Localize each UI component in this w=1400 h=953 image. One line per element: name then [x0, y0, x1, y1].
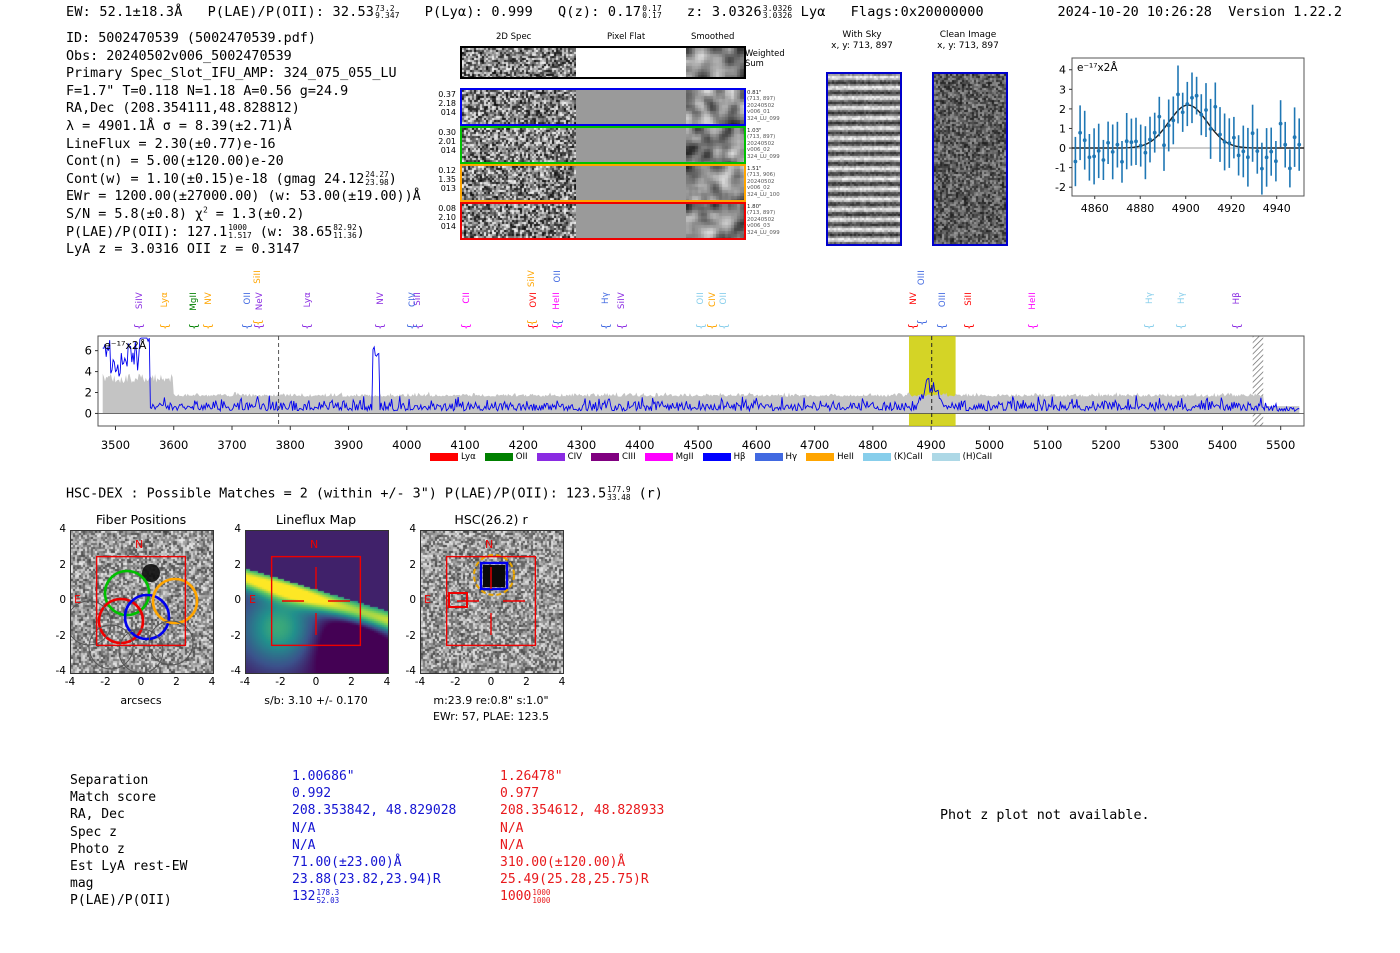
xtick-label: 3900: [323, 438, 375, 452]
xtick-label: 4700: [789, 438, 841, 452]
line-bracket-icon: }: [1175, 323, 1188, 330]
ew-value: 52.1±18.3Å: [99, 4, 182, 20]
legend-swatch: [645, 453, 673, 461]
qz-label: Q(z):: [558, 4, 600, 20]
cutout-xtick: 4: [375, 676, 399, 688]
fiber-meta-5: 324_LU_099: [747, 154, 780, 160]
seg-2dspec: [462, 166, 576, 200]
cutout-title: Clean Image: [918, 30, 1018, 41]
legend-item: (K)CaII: [863, 452, 923, 462]
cutout-image-lineflux-map: [245, 530, 389, 674]
fiber-weight-2: 2.10: [430, 213, 456, 222]
flags: Flags:0x20000000: [851, 4, 984, 20]
cutout-image-hsc-r: [420, 530, 564, 674]
fiber-meta-5: 324_LU_100: [747, 192, 780, 198]
table-cell-lo: 52.03: [316, 897, 339, 905]
xtick-label: 4100: [439, 438, 491, 452]
line-bracket-icon: }: [552, 319, 565, 326]
legend-swatch: [932, 453, 960, 461]
svg-text:4940: 4940: [1263, 202, 1291, 215]
xtick-label: 3500: [89, 438, 141, 452]
fiber-weight-label: 0.372.18014: [430, 90, 456, 118]
info-obs: Obs: 20240502v006_5002470539: [66, 48, 421, 66]
xtick-label: 5100: [1022, 438, 1074, 452]
line-bracket-icon: }: [616, 323, 629, 330]
line-bracket-icon: }: [1027, 323, 1040, 330]
line-name: HeII: [1028, 292, 1038, 310]
z-label: z:: [687, 4, 704, 20]
xtick-label: 3700: [206, 438, 258, 452]
svg-text:e⁻¹⁷x2Å: e⁻¹⁷x2Å: [104, 339, 147, 352]
legend-swatch: [591, 453, 619, 461]
cutout-xtick: 2: [515, 676, 539, 688]
info-plae-w-lo: 11.36: [333, 232, 356, 240]
svg-text:4860: 4860: [1081, 202, 1109, 215]
hscdex-text-pre: HSC-DEX : Possible Matches = 2 (within +…: [66, 486, 606, 501]
cutout-ytick: -4: [396, 665, 416, 677]
z-value: 3.0326: [712, 4, 762, 20]
table-cell: N/A: [292, 837, 315, 854]
svg-text:4920: 4920: [1217, 202, 1245, 215]
info-plae-end: ): [357, 225, 365, 240]
object-info-block: ID: 5002470539 (5002470539.pdf) Obs: 202…: [66, 30, 421, 259]
plae-label: P(LAE)/P(OII):: [208, 4, 325, 20]
table-cell: 1.26478": [500, 768, 563, 785]
table-cell: 1.00686": [292, 768, 355, 785]
line-fit-plot: 48604880490049204940-2-101234e⁻¹⁷x2Å: [1038, 50, 1310, 222]
svg-text:6: 6: [85, 344, 92, 358]
seg-smoothed: [686, 128, 744, 162]
legend-label: (K)CaII: [894, 452, 923, 462]
svg-text:3: 3: [1059, 83, 1066, 96]
header-summary-line: EW: 52.1±18.3Å P(LAE)/P(OII): 32.5373.29…: [66, 4, 984, 20]
weighted-sum-line1: Weighted: [745, 48, 785, 58]
legend-label: MgII: [676, 452, 694, 462]
line-name: Hγ: [601, 292, 611, 304]
line-name: OVI: [529, 292, 539, 308]
spec2d-row: [460, 88, 746, 126]
line-name: SiIV: [617, 292, 627, 309]
cutout-image-fiber-positions: [70, 530, 214, 674]
spec2d-panel-group: 2D Spec Pixel Flat Smoothed Weighted Sum…: [430, 32, 770, 252]
svg-text:0: 0: [85, 406, 92, 420]
seg-2dspec: [462, 204, 576, 238]
svg-text:4: 4: [85, 365, 92, 379]
cutout-ytick: 0: [396, 594, 416, 606]
fiber-weight-1: 0.08: [430, 204, 456, 213]
seg-smoothed: [686, 204, 744, 238]
hscdex-text-post: (r): [639, 486, 663, 501]
col-header-pixelflat: Pixel Flat: [607, 32, 645, 42]
north-label: N: [135, 538, 143, 551]
weighted-sum-line2: Sum: [745, 58, 785, 68]
cutout-ytick: 4: [221, 523, 241, 535]
table-cell: 100010001000: [500, 888, 550, 905]
cutout-ytick: -2: [221, 630, 241, 642]
fiber-meta-label: 1.51"(713, 906)20240502v006_02324_LU_100: [747, 166, 780, 198]
legend-item: CIV: [537, 452, 582, 462]
line-bracket-icon: }: [374, 323, 387, 330]
xtick-label: 4500: [672, 438, 724, 452]
xtick-label: 5000: [963, 438, 1015, 452]
cutout-xtick: -2: [269, 676, 293, 688]
hscdex-lo: 33.48: [607, 494, 630, 502]
info-primary-spec: Primary Spec_Slot_IFU_AMP: 324_075_055_L…: [66, 65, 421, 83]
plae-lo: 9.347: [375, 12, 400, 20]
table-cell-lo: 1000: [532, 897, 550, 905]
line-name: Lyα: [303, 292, 313, 307]
cutout-ytick: -4: [46, 665, 66, 677]
table-cell-value: 1000: [500, 889, 531, 904]
seg-pixelflat: [576, 204, 686, 238]
legend-swatch: [537, 453, 565, 461]
legend-label: Hγ: [786, 452, 798, 462]
info-cont-w: Cont(w) = 1.10(±0.15)e-18 (gmag 24.1224.…: [66, 171, 421, 189]
cutout-xtick: 2: [165, 676, 189, 688]
fiber-meta-2: (713, 897): [747, 134, 780, 140]
seg-2dspec: [462, 128, 576, 162]
fiber-weight-3: 014: [430, 108, 456, 117]
table-cell: N/A: [500, 820, 523, 837]
cutout-ytick: 2: [221, 559, 241, 571]
plya-value: 0.999: [491, 4, 533, 20]
table-cell: N/A: [500, 837, 523, 854]
line-name: SiII: [964, 292, 974, 306]
line-bracket-icon: }: [406, 323, 419, 330]
cutout-xtick: 4: [200, 676, 224, 688]
fiber-weight-2: 2.18: [430, 99, 456, 108]
line-name: OII: [553, 270, 563, 282]
line-bracket-icon: }: [133, 323, 146, 330]
cutout-title: With Sky: [812, 30, 912, 41]
col-header-smoothed: Smoothed: [691, 32, 734, 42]
xtick-label: 5300: [1138, 438, 1190, 452]
info-plae-mid: (w: 38.65: [260, 225, 333, 240]
table-cell: 132178.352.03: [292, 888, 339, 905]
table-cell: 208.353842, 48.829028: [292, 802, 456, 819]
emission-line-markers: SiIV}Lyα}MgII}NV}OII}SiII}NeV}Lyα}NV}SiI…: [60, 270, 1310, 332]
fiber-weight-3: 013: [430, 184, 456, 193]
clean-image: [932, 72, 1008, 246]
fiber-weight-3: 014: [430, 222, 456, 231]
line-bracket-icon: }: [916, 319, 929, 326]
photz-note: Phot z plot not available.: [940, 808, 1150, 823]
legend-item: MgII: [645, 452, 694, 462]
fiber-meta-5: 324_LU_099: [747, 230, 780, 236]
legend-item: HeII: [806, 452, 854, 462]
line-name: NV: [376, 292, 386, 305]
line-bracket-icon: }: [159, 323, 172, 330]
line-name: OII: [696, 292, 706, 304]
fiber-meta-2: (713, 897): [747, 96, 780, 102]
seg-pixelflat: [576, 48, 686, 77]
seg-pixelflat: [576, 166, 686, 200]
legend-label: CIV: [568, 452, 582, 462]
spec2d-row: [460, 46, 746, 79]
svg-text:2: 2: [1059, 103, 1066, 116]
line-bracket-icon: }: [188, 323, 201, 330]
col-header-2dspec: 2D Spec: [496, 32, 531, 42]
cutout-caption-line1: s/b: 3.10 +/- 0.170: [217, 694, 415, 707]
fiber-weight-label: 0.302.01014: [430, 128, 456, 156]
cutout-caption-line1: arcsecs: [42, 694, 240, 707]
east-label: E: [249, 593, 256, 606]
cutout-ytick: 4: [46, 523, 66, 535]
svg-text:1: 1: [1059, 122, 1066, 135]
info-cont-n: Cont(n) = 5.00(±120.00)e-20: [66, 153, 421, 171]
table-cell: N/A: [292, 820, 315, 837]
table-cell: 71.00(±23.00)Å: [292, 854, 402, 871]
line-name: Hβ: [1232, 292, 1242, 304]
ew-label: EW:: [66, 4, 91, 20]
svg-text:2: 2: [85, 386, 92, 400]
qz-lo: 0.17: [642, 12, 662, 20]
table-row-label: Photo z: [70, 841, 125, 858]
legend-item: OII: [485, 452, 528, 462]
line-bracket-icon: }: [718, 323, 731, 330]
cutout-ytick: 4: [396, 523, 416, 535]
table-row-label: RA, Dec: [70, 806, 125, 823]
seg-pixelflat: [576, 90, 686, 124]
cutout-xtick: 0: [304, 676, 328, 688]
xtick-label: 4200: [497, 438, 549, 452]
info-plae-pre: P(LAE)/P(OII): 127.1: [66, 225, 227, 240]
table-row-label: P(LAE)/P(OII): [70, 892, 172, 909]
table-cell: 310.00(±120.00)Å: [500, 854, 625, 871]
xtick-label: 5400: [1196, 438, 1248, 452]
table-cell: 208.354612, 48.828933: [500, 802, 664, 819]
fiber-weight-1: 0.30: [430, 128, 456, 137]
fiber-weight-2: 2.01: [430, 137, 456, 146]
cutout-ytick: -4: [221, 665, 241, 677]
cutout-ytick: 0: [46, 594, 66, 606]
line-name: CII: [462, 292, 472, 304]
line-bracket-icon: }: [600, 323, 613, 330]
line-bracket-icon: }: [253, 323, 266, 330]
spectrum-legend: LyαOIICIVCIIIMgIIHβHγHeII(K)CaII(H)CaII: [430, 452, 990, 462]
with-sky-image: [826, 72, 902, 246]
legend-label: CIII: [622, 452, 636, 462]
legend-item: Hβ: [703, 452, 746, 462]
table-cell-value: 132: [292, 889, 315, 904]
xtick-label: 4300: [556, 438, 608, 452]
plae-value: 32.53: [333, 4, 375, 20]
xtick-label: 4800: [847, 438, 899, 452]
info-lambda-sigma: λ = 4901.1Å σ = 8.39(±2.71)Å: [66, 118, 421, 136]
fiber-weight-1: 0.12: [430, 166, 456, 175]
fiber-weight-label: 0.121.35013: [430, 166, 456, 194]
cutout-panel-title: Lineflux Map: [235, 512, 397, 527]
cutout-xtick: -4: [58, 676, 82, 688]
legend-swatch: [485, 453, 513, 461]
z-lo: 3.0326: [763, 12, 792, 20]
line-bracket-icon: }: [1143, 323, 1156, 330]
spec2d-row: [460, 164, 746, 202]
north-label: N: [310, 538, 318, 551]
svg-text:4880: 4880: [1126, 202, 1154, 215]
line-bracket-icon: }: [526, 319, 539, 326]
cutout-xtick: 2: [340, 676, 364, 688]
legend-swatch: [863, 453, 891, 461]
cutout-panel-title: Fiber Positions: [60, 512, 222, 527]
line-name: HeII: [552, 292, 562, 310]
info-snr: S/N = 5.8(±0.8) χ2 = 1.3(±0.2): [66, 206, 421, 224]
line-name: NV: [204, 292, 214, 305]
fiber-meta-2: (713, 897): [747, 210, 780, 216]
line-name: SiII: [253, 270, 263, 284]
cutout-ytick: 2: [46, 559, 66, 571]
line-name: CIV: [408, 292, 418, 307]
fiber-weight-label: 0.082.10014: [430, 204, 456, 232]
table-cell: 0.977: [500, 785, 539, 802]
line-bracket-icon: }: [936, 323, 949, 330]
line-name: OII: [719, 292, 729, 304]
legend-swatch: [755, 453, 783, 461]
plya-label: P(Lyα):: [425, 4, 483, 20]
info-redshifts: LyA z = 3.0316 OII z = 0.3147: [66, 241, 421, 259]
legend-label: (H)CaII: [963, 452, 993, 462]
seg-2dspec: [462, 48, 576, 77]
line-name: Lyα: [160, 292, 170, 307]
legend-swatch: [703, 453, 731, 461]
cutout-xtick: -4: [408, 676, 432, 688]
seg-smoothed: [686, 166, 744, 200]
info-plae-lo: 1.517: [228, 232, 251, 240]
cont-w-post: ): [389, 172, 397, 187]
legend-label: OII: [516, 452, 528, 462]
cutout-ytick: -2: [46, 630, 66, 642]
line-name: OIII: [917, 270, 927, 285]
legend-label: Hβ: [734, 452, 746, 462]
line-name: NV: [909, 292, 919, 305]
fiber-weight-1: 0.37: [430, 90, 456, 99]
line-name: OII: [243, 292, 253, 304]
cutout-caption: Clean Imagex, y: 713, 897: [918, 30, 1018, 52]
line-name: CIV: [708, 292, 718, 307]
spec2d-row: [460, 126, 746, 164]
xtick-label: 5500: [1255, 438, 1307, 452]
weighted-sum-label: Weighted Sum: [745, 48, 785, 68]
z-type: Lyα: [801, 4, 826, 20]
cutout-xtick: -2: [444, 676, 468, 688]
line-name: MgII: [189, 292, 199, 311]
info-plae: P(LAE)/P(OII): 127.110001.517 (w: 38.658…: [66, 224, 421, 242]
cutout-xy: x, y: 713, 897: [918, 41, 1018, 52]
line-bracket-icon: }: [301, 323, 314, 330]
info-ewr: EWr = 1200.00(±27000.00) (w: 53.00(±19.0…: [66, 188, 421, 206]
svg-text:-1: -1: [1055, 162, 1066, 175]
cutout-xtick: -4: [233, 676, 257, 688]
datetime: 2024-10-20 10:26:28: [1058, 4, 1212, 20]
seg-smoothed: [686, 90, 744, 124]
svg-text:e⁻¹⁷x2Å: e⁻¹⁷x2Å: [1077, 61, 1118, 74]
table-row-label: Spec z: [70, 824, 117, 841]
hscdex-match-header: HSC-DEX : Possible Matches = 2 (within +…: [66, 486, 663, 502]
cutout-caption-line2: EWr: 57, PLAE: 123.5: [392, 710, 590, 723]
xtick-label: 4600: [730, 438, 782, 452]
cutout-xtick: 0: [479, 676, 503, 688]
line-bracket-icon: }: [963, 323, 976, 330]
info-lineflux: LineFlux = 2.30(±0.77)e-16: [66, 136, 421, 154]
legend-item: CIII: [591, 452, 636, 462]
legend-label: Lyα: [461, 452, 476, 462]
table-row-label: Separation: [70, 772, 148, 789]
east-label: E: [424, 593, 431, 606]
cont-w-pre: Cont(w) = 1.10(±0.15)e-18 (gmag 24.12: [66, 172, 364, 187]
line-bracket-icon: }: [202, 323, 215, 330]
xtick-label: 5200: [1080, 438, 1132, 452]
svg-text:4900: 4900: [1172, 202, 1200, 215]
fiber-weight-3: 014: [430, 146, 456, 155]
table-cell: 0.992: [292, 785, 331, 802]
table-cell: 23.88(23.82,23.94)R: [292, 871, 441, 888]
seg-pixelflat: [576, 128, 686, 162]
svg-text:4: 4: [1059, 64, 1066, 77]
xtick-label: 4900: [905, 438, 957, 452]
cutout-caption: With Skyx, y: 713, 897: [812, 30, 912, 52]
east-label: E: [74, 593, 81, 606]
table-row-label: Est LyA rest-EW: [70, 858, 187, 875]
info-radec: RA,Dec (208.354111,48.828812): [66, 100, 421, 118]
xtick-label: 4000: [381, 438, 433, 452]
cutout-ytick: 0: [221, 594, 241, 606]
table-cell: 25.49(25.28,25.75)R: [500, 871, 649, 888]
cutout-ytick: -2: [396, 630, 416, 642]
line-bracket-icon: }: [460, 323, 473, 330]
timestamp-version: 2024-10-20 10:26:28 Version 1.22.2: [1058, 4, 1343, 20]
cutout-xtick: 4: [550, 676, 574, 688]
svg-text:-2: -2: [1055, 181, 1066, 194]
xtick-label: 3600: [148, 438, 200, 452]
fiber-meta-5: 324_LU_099: [747, 116, 780, 122]
snr-pre: S/N = 5.8(±0.8) χ: [66, 207, 203, 222]
table-row-label: Match score: [70, 789, 156, 806]
version: Version 1.22.2: [1228, 4, 1342, 20]
legend-item: Lyα: [430, 452, 476, 462]
fiber-meta-label: 1.80"(713, 897)20240502v006_03324_LU_099: [747, 204, 780, 236]
table-row-label: mag: [70, 875, 93, 892]
line-name: OIII: [938, 292, 948, 307]
cutout-panel-title: HSC(26.2) r: [410, 512, 572, 527]
info-id: ID: 5002470539 (5002470539.pdf): [66, 30, 421, 48]
legend-item: Hγ: [755, 452, 798, 462]
fiber-meta-label: 1.03"(713, 897)20240502v006_02324_LU_099: [747, 128, 780, 160]
seg-2dspec: [462, 90, 576, 124]
line-name: Hγ: [1177, 292, 1187, 304]
legend-swatch: [430, 453, 458, 461]
cutout-xtick: -2: [94, 676, 118, 688]
info-seeing: F=1.7" T=0.118 N=1.18 A=0.56 g=24.9: [66, 83, 421, 101]
fiber-meta-label: 0.81"(713, 897)20240502v006_01324_LU_099: [747, 90, 780, 122]
spec2d-row: [460, 202, 746, 240]
fiber-meta-2: (713, 906): [747, 172, 780, 178]
cutout-ytick: 2: [396, 559, 416, 571]
line-name: Hγ: [1145, 292, 1155, 304]
cutout-xtick: 0: [129, 676, 153, 688]
full-spectrum-plot: 0246e⁻¹⁷x2Å: [60, 330, 1310, 440]
line-name: SiIV: [527, 270, 537, 287]
cutout-caption-line1: m:23.9 re:0.8" s:1.0": [392, 694, 590, 707]
line-name: SiIV: [135, 292, 145, 309]
line-name: NeV: [255, 292, 265, 310]
legend-label: HeII: [837, 452, 854, 462]
snr-post: = 1.3(±0.2): [208, 207, 305, 222]
north-label: N: [485, 538, 493, 551]
qz-value: 0.17: [608, 4, 641, 20]
legend-item: (H)CaII: [932, 452, 993, 462]
legend-swatch: [806, 453, 834, 461]
fiber-weight-2: 1.35: [430, 175, 456, 184]
